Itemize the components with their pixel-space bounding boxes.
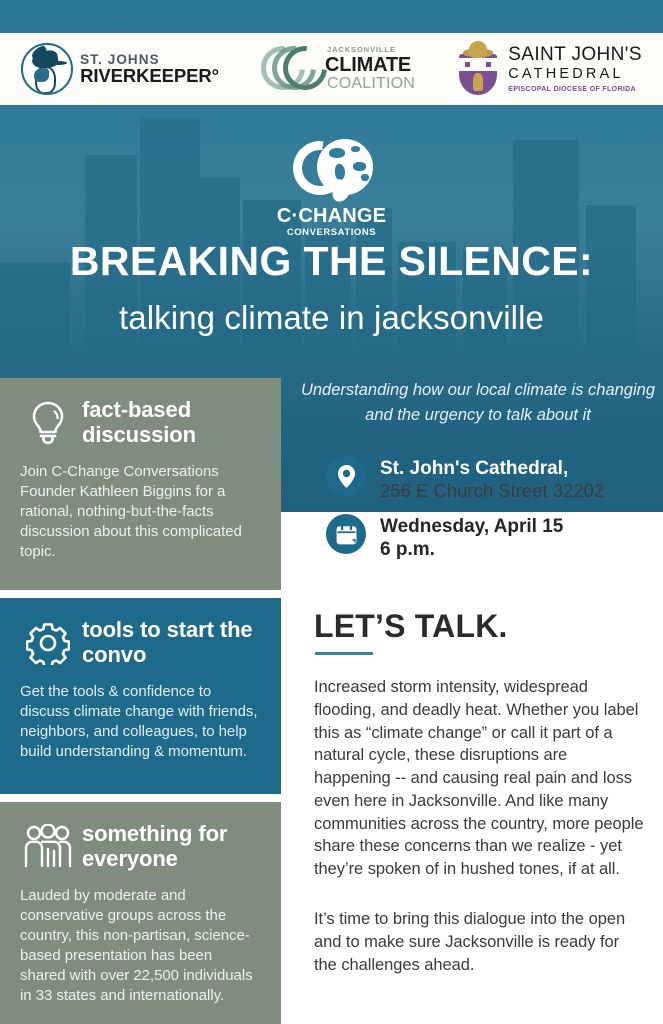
- cchange-wordmark: C·CHANGE: [277, 206, 386, 226]
- poster-root: ST. JOHNS RIVERKEEPER° JACKSONVILLE CLIM…: [0, 0, 663, 1024]
- panel-title-1: fact-based discussion: [82, 398, 259, 447]
- calendar-icon: [326, 514, 366, 554]
- main-heading: LET’S TALK.: [314, 608, 508, 645]
- triple-c-icon: [261, 42, 323, 96]
- event-date-row: Wednesday, April 15 6 p.m.: [326, 514, 563, 561]
- info-panel-something-for-everyone: something for everyone Lauded by moderat…: [0, 802, 281, 1024]
- hero-kicker-text: Understanding how our local climate is c…: [300, 378, 656, 428]
- logo-st-johns-riverkeeper: ST. JOHNS RIVERKEEPER°: [21, 43, 219, 95]
- event-date: Wednesday, April 15: [380, 515, 563, 538]
- jcc-line3: COALITION: [327, 76, 415, 92]
- info-panel-fact-based-discussion: fact-based discussion Join C-Change Conv…: [0, 378, 281, 590]
- people-group-icon: [20, 822, 76, 872]
- body-paragraph-1: Increased storm intensity, widespread fl…: [314, 676, 644, 881]
- body-paragraph-2: It’s time to bring this dialogue into th…: [314, 908, 644, 976]
- episcopal-shield-icon: [457, 41, 499, 97]
- gear-icon: [20, 618, 76, 668]
- panel-body-1: Join C-Change Conversations Founder Kath…: [20, 462, 259, 562]
- jcc-line2: CLIMATE: [325, 55, 415, 75]
- partner-logo-bar: ST. JOHNS RIVERKEEPER° JACKSONVILLE CLIM…: [0, 33, 663, 105]
- cchange-brand-logo: C·CHANGE CONVERSATIONS: [0, 138, 663, 238]
- cathedral-line3: EPISCOPAL DIOCESE OF FLORIDA: [508, 86, 642, 93]
- info-panel-tools-to-start-the-convo: tools to start the convo Get the tools &…: [0, 598, 281, 794]
- location-address: 256 E Church Street 32202: [380, 480, 604, 503]
- panel-body-3: Lauded by moderate and conservative grou…: [20, 886, 259, 1006]
- logo-jacksonville-climate-coalition: JACKSONVILLE CLIMATE COALITION: [261, 42, 415, 96]
- cathedral-line2: CATHEDRAL: [508, 67, 642, 82]
- logo-saint-johns-cathedral: SAINT JOHN'S CATHEDRAL EPISCOPAL DIOCESE…: [457, 41, 642, 97]
- page-title: BREAKING THE SILENCE:: [0, 240, 663, 283]
- location-name: St. John's Cathedral,: [380, 457, 604, 480]
- map-pin-icon: [326, 456, 366, 496]
- cathedral-line1: SAINT JOHN'S: [508, 45, 642, 64]
- kingfisher-bird-icon: [21, 43, 73, 95]
- panel-title-3: something for everyone: [82, 822, 259, 871]
- panel-body-2: Get the tools & confidence to discuss cl…: [20, 682, 259, 762]
- heading-underline-rule: [315, 652, 373, 655]
- event-time: 6 p.m.: [380, 538, 563, 561]
- lightbulb-icon: [20, 398, 76, 448]
- cchange-subwordmark: CONVERSATIONS: [287, 228, 376, 238]
- panel-title-2: tools to start the convo: [82, 618, 259, 667]
- riverkeeper-line1: ST. JOHNS: [80, 53, 219, 67]
- jcc-line1: JACKSONVILLE: [327, 46, 415, 54]
- page-subtitle: talking climate in jacksonville: [0, 300, 663, 336]
- event-location-row: St. John's Cathedral, 256 E Church Stree…: [326, 456, 604, 503]
- riverkeeper-line2: RIVERKEEPER°: [80, 67, 219, 86]
- globe-crescent-icon: [289, 138, 375, 204]
